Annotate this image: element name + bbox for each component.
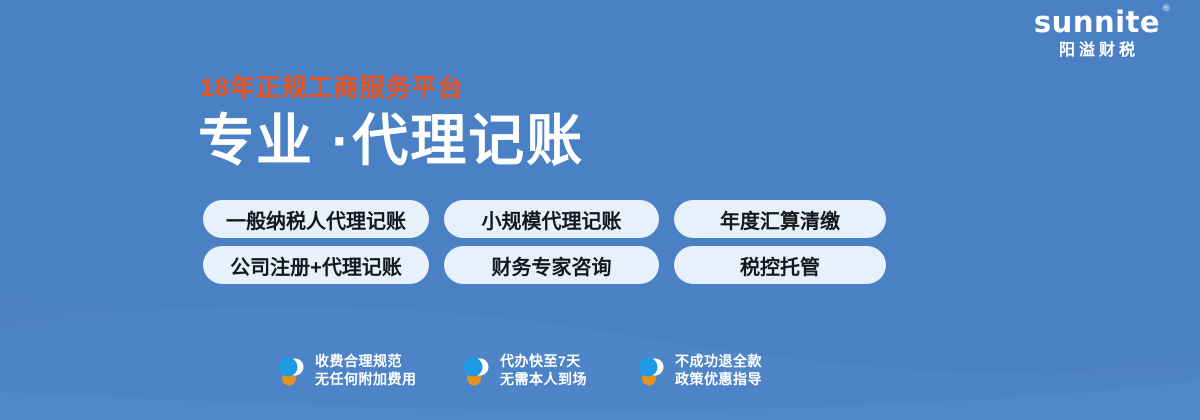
service-pill-group: 一般纳税人代理记账 小规模代理记账 年度汇算清缴 公司注册+代理记账 财务专家咨… <box>203 200 886 292</box>
circle-badge-icon <box>636 354 666 386</box>
brand-logo[interactable]: sunnite ® 阳溢财税 <box>1012 8 1182 60</box>
feature-line-1: 不成功退全款 <box>675 352 762 370</box>
feature-text-guarantee: 不成功退全款 政策优惠指导 <box>675 352 762 388</box>
service-pill-finance-expert-consulting[interactable]: 财务专家咨询 <box>444 246 659 284</box>
feature-line-1: 收费合理规范 <box>315 352 417 370</box>
feature-item-pricing: 收费合理规范 无任何附加费用 <box>276 352 461 388</box>
logo-wordmark-text: sunnite <box>1034 5 1160 39</box>
service-pill-general-taxpayer-bookkeeping[interactable]: 一般纳税人代理记账 <box>203 200 429 238</box>
hero-headline: 专业 ·代理记账 <box>198 112 584 171</box>
promo-banner: sunnite ® 阳溢财税 18年正规工商服务平台 专业 ·代理记账 一般纳税… <box>0 0 1200 420</box>
feature-item-speed: 代办快至7天 无需本人到场 <box>461 352 636 388</box>
feature-text-pricing: 收费合理规范 无任何附加费用 <box>315 352 417 388</box>
logo-wordmark: sunnite ® <box>1034 8 1160 37</box>
service-pill-annual-tax-settlement[interactable]: 年度汇算清缴 <box>674 200 886 238</box>
feature-item-guarantee: 不成功退全款 政策优惠指导 <box>636 352 811 388</box>
feature-line-1: 代办快至7天 <box>500 352 587 370</box>
service-pill-row: 公司注册+代理记账 财务专家咨询 税控托管 <box>203 246 886 284</box>
service-pill-row: 一般纳税人代理记账 小规模代理记账 年度汇算清缴 <box>203 200 886 238</box>
feature-line-2: 无需本人到场 <box>500 370 587 388</box>
circle-badge-icon <box>276 354 306 386</box>
feature-list: 收费合理规范 无任何附加费用 代办快至7天 无需本人到场 <box>276 352 811 388</box>
service-pill-tax-control-hosting[interactable]: 税控托管 <box>674 246 886 284</box>
circle-badge-icon <box>461 354 491 386</box>
registered-trademark-icon: ® <box>1162 5 1172 14</box>
service-pill-small-scale-bookkeeping[interactable]: 小规模代理记账 <box>444 200 659 238</box>
logo-chinese-name: 阳溢财税 <box>1012 42 1182 60</box>
hero-kicker: 18年正规工商服务平台 <box>200 76 464 101</box>
service-pill-company-registration-bookkeeping[interactable]: 公司注册+代理记账 <box>203 246 429 284</box>
feature-line-2: 政策优惠指导 <box>675 370 762 388</box>
feature-text-speed: 代办快至7天 无需本人到场 <box>500 352 587 388</box>
feature-line-2: 无任何附加费用 <box>315 370 417 388</box>
